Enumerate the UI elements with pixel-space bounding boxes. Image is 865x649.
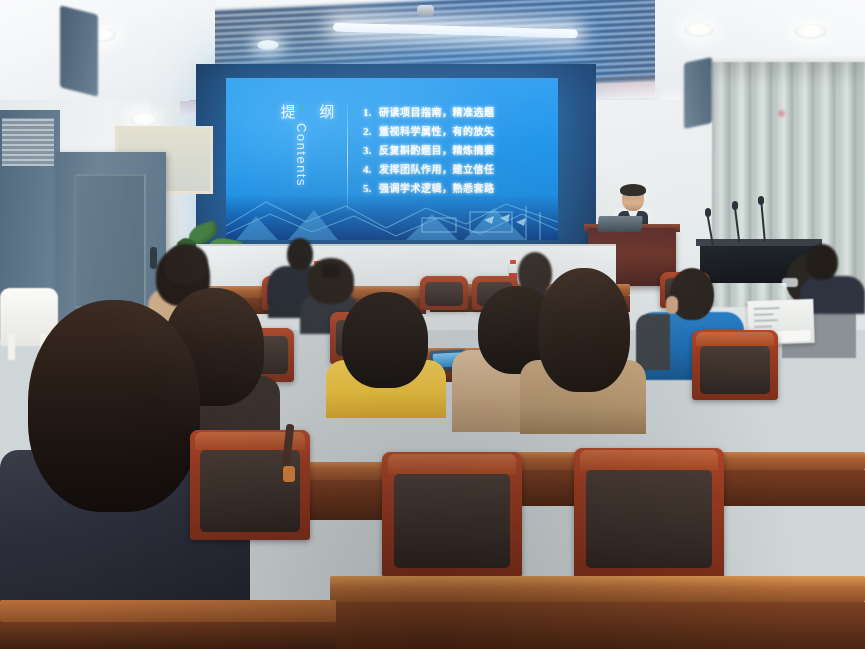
downlight-icon bbox=[794, 24, 827, 39]
wall-speaker-right bbox=[684, 57, 712, 129]
led-presentation-screen: 提 纲 Contents 1. 研读项目指南，精准选题 2. 重视科学属性，有的… bbox=[226, 78, 558, 240]
glasses-icon bbox=[782, 278, 798, 287]
slide-title-cn: 提 纲 bbox=[278, 104, 340, 121]
slide-title: 提 纲 Contents bbox=[278, 104, 340, 187]
desk-front-foreground-left bbox=[0, 622, 336, 649]
presenter-hair bbox=[620, 184, 646, 196]
desk-top-foreground-left bbox=[0, 600, 336, 622]
slide-item-text: 重视科学属性，有的放矢 bbox=[379, 123, 495, 142]
ceiling-sensor-icon bbox=[417, 5, 434, 16]
microphone-head-icon bbox=[758, 196, 764, 205]
wall-speaker-left bbox=[60, 5, 98, 96]
person-hair bbox=[28, 300, 200, 512]
ceiling-soffit-left bbox=[0, 0, 215, 100]
slide-item-text: 反复斟酌题目，精炼摘要 bbox=[379, 142, 495, 161]
slide-item-text: 发挥团队作用，建立信任 bbox=[379, 161, 495, 180]
slide-list: 1. 研读项目指南，精准选题 2. 重视科学属性，有的放矢 3. 反复斟酌题目，… bbox=[363, 104, 553, 199]
audience-member-long-hair bbox=[520, 268, 646, 434]
slide-list-item: 4. 发挥团队作用，建立信任 bbox=[363, 161, 553, 180]
chair-crest bbox=[696, 332, 774, 346]
door-ventilation-grille bbox=[2, 118, 54, 166]
tech-cityscape-svg bbox=[226, 196, 558, 240]
slide-list-item: 3. 反复斟酌题目，精炼摘要 bbox=[363, 142, 553, 161]
chair[interactable] bbox=[692, 330, 778, 400]
lectern-laptop bbox=[597, 216, 643, 232]
person-head bbox=[670, 268, 714, 320]
bag-charm bbox=[283, 466, 295, 482]
slide-item-number: 5. bbox=[363, 180, 379, 199]
person-hair bbox=[538, 268, 630, 392]
slide-list-item: 2. 重视科学属性，有的放矢 bbox=[363, 123, 553, 142]
chair-crest bbox=[388, 454, 516, 474]
slide-bottom-graphic bbox=[226, 196, 558, 240]
person-ear bbox=[666, 296, 678, 314]
slide-item-number: 3. bbox=[363, 142, 379, 161]
chair[interactable] bbox=[382, 452, 522, 577]
chair-pad bbox=[586, 470, 712, 568]
slide-divider bbox=[347, 103, 348, 211]
microphone-head-icon bbox=[732, 201, 738, 210]
slide-item-number: 1. bbox=[363, 104, 379, 123]
person-hair bbox=[342, 292, 428, 388]
person-head bbox=[806, 244, 838, 280]
slide-item-text: 强调学术逻辑，熟悉套路 bbox=[379, 180, 495, 199]
audience-member-yellow-sweater bbox=[326, 292, 446, 418]
desk-front-foreground bbox=[330, 602, 865, 649]
slide-title-en: Contents bbox=[294, 123, 309, 187]
downlight-icon bbox=[257, 40, 279, 50]
slide-title-cn-char2: 纲 bbox=[319, 103, 337, 121]
chair[interactable] bbox=[574, 448, 724, 578]
downlight-icon bbox=[130, 113, 158, 126]
slide-item-number: 4. bbox=[363, 161, 379, 180]
chair-pad bbox=[700, 346, 770, 394]
audience-member bbox=[158, 244, 214, 290]
slide-item-number: 2. bbox=[363, 123, 379, 142]
door-panel bbox=[74, 174, 146, 308]
slide-title-cn-char1: 提 bbox=[281, 103, 299, 121]
hair-clip bbox=[322, 264, 340, 278]
slide-list-item: 5. 强调学术逻辑，熟悉套路 bbox=[363, 180, 553, 199]
slide-item-text: 研读项目指南，精准选题 bbox=[379, 104, 495, 123]
desk-top-foreground bbox=[330, 576, 865, 602]
chair-pad bbox=[394, 474, 510, 568]
downlight-icon bbox=[684, 23, 714, 37]
person-hair bbox=[164, 244, 208, 284]
conference-room-photo: 提 纲 Contents 1. 研读项目指南，精准选题 2. 重视科学属性，有的… bbox=[0, 0, 865, 649]
microphone-head-icon bbox=[705, 208, 711, 217]
curtain-marker bbox=[778, 110, 785, 117]
slide-list-item: 1. 研读项目指南，精准选题 bbox=[363, 104, 553, 123]
chair-crest bbox=[580, 450, 718, 470]
